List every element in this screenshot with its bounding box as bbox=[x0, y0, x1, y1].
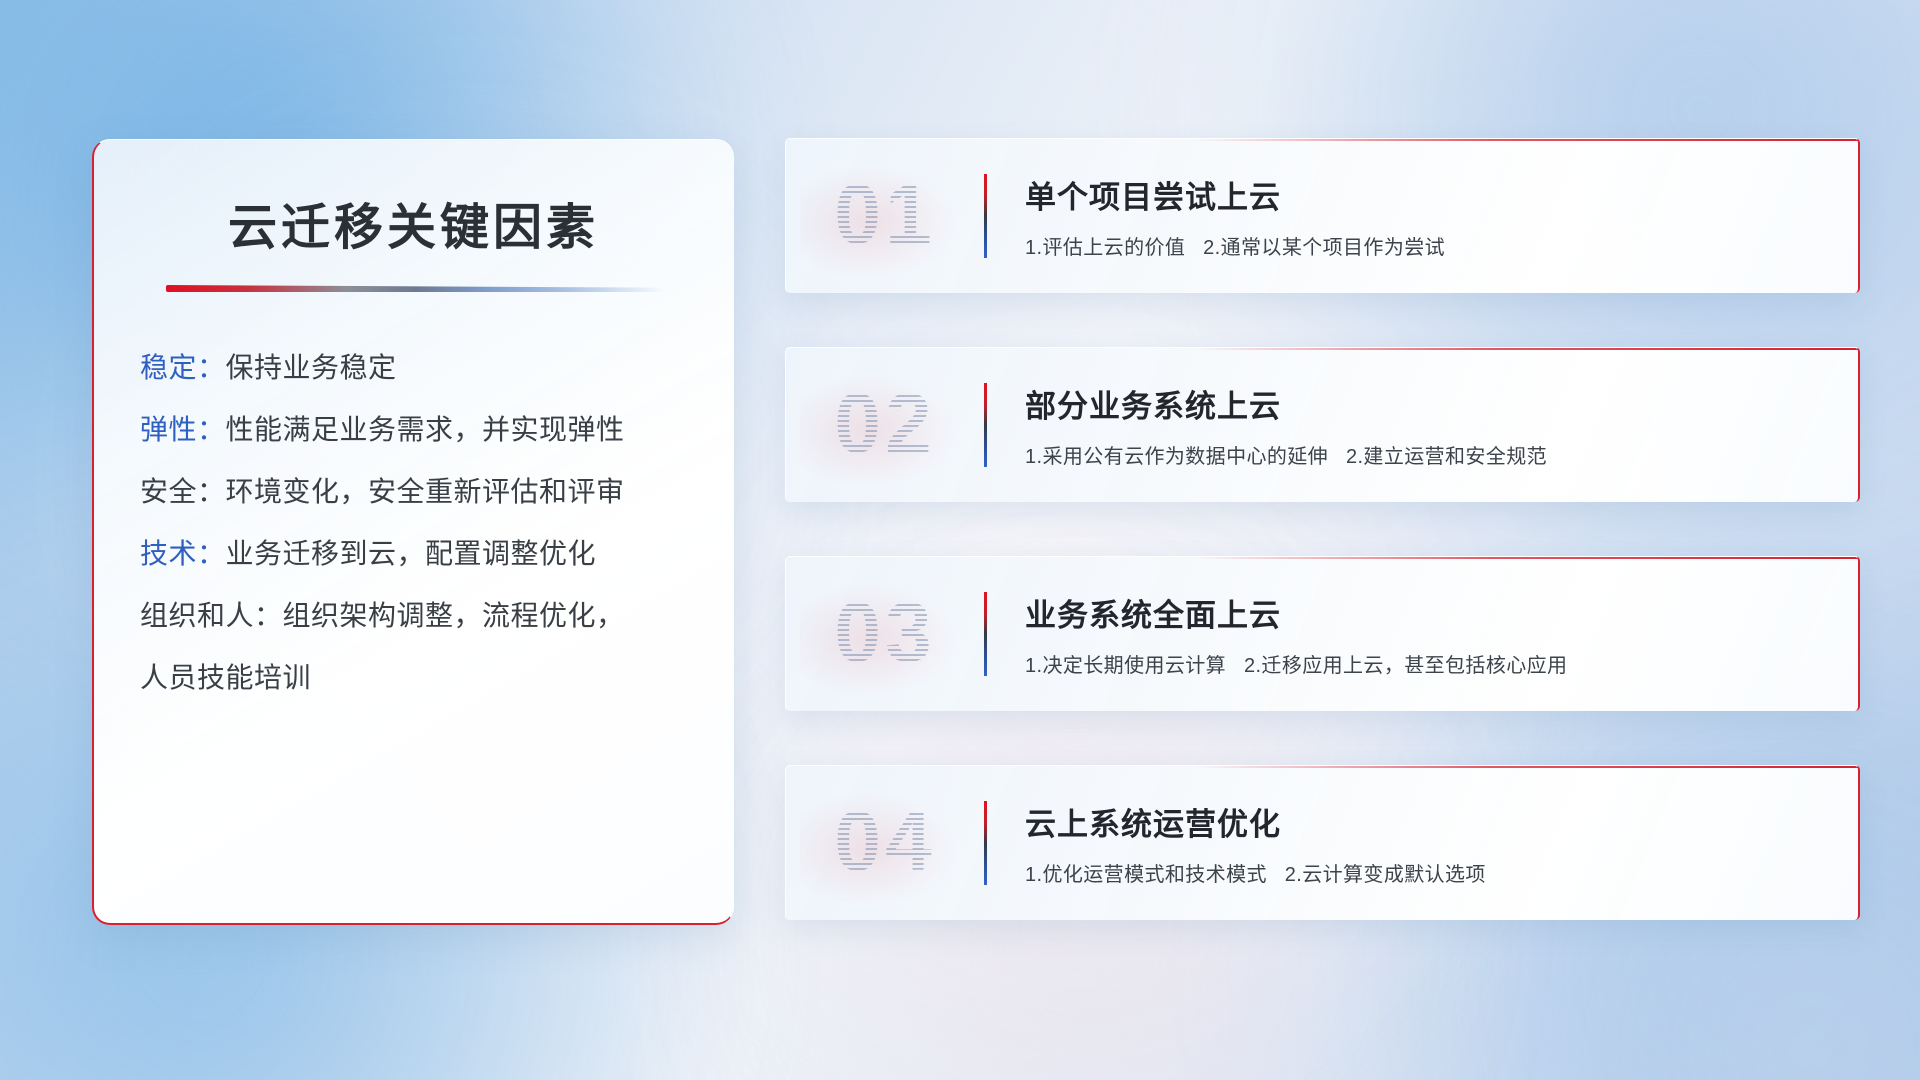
stage-number: 01 bbox=[834, 166, 935, 263]
card-description: 1.决定长期使用云计算 2.迁移应用上云，甚至包括核心应用 bbox=[1025, 649, 1834, 678]
stage-card[interactable]: 02部分业务系统上云1.采用公有云作为数据中心的延伸 2.建立运营和安全规范 bbox=[785, 347, 1860, 502]
card-title: 业务系统全面上云 bbox=[1025, 590, 1834, 635]
factor-text: 业务迁移到云，配置调整优化 bbox=[226, 538, 597, 569]
card-title: 单个项目尝试上云 bbox=[1025, 172, 1834, 217]
page-title: 云迁移关键因素 bbox=[94, 188, 733, 259]
card-title: 云上系统运营优化 bbox=[1025, 799, 1834, 844]
card-divider bbox=[984, 592, 987, 676]
factor-list: 稳定：保持业务稳定弹性：性能满足业务需求，并实现弹性安全：环境变化，安全重新评估… bbox=[140, 354, 733, 692]
factor-label: 弹性： bbox=[140, 414, 226, 445]
factor-text: 保持业务稳定 bbox=[226, 352, 397, 383]
card-title: 部分业务系统上云 bbox=[1025, 381, 1834, 426]
factor-label: 稳定： bbox=[140, 352, 226, 383]
card-body: 部分业务系统上云1.采用公有云作为数据中心的延伸 2.建立运营和安全规范 bbox=[1025, 381, 1858, 469]
factor-label: 技术： bbox=[140, 538, 226, 569]
card-description: 1.优化运营模式和技术模式 2.云计算变成默认选项 bbox=[1025, 858, 1834, 887]
stage-number-wrap: 04 bbox=[786, 766, 984, 920]
factor-label: 安全： bbox=[140, 476, 226, 507]
factor-item: 安全：环境变化，安全重新评估和评审 bbox=[140, 478, 733, 506]
card-body: 业务系统全面上云1.决定长期使用云计算 2.迁移应用上云，甚至包括核心应用 bbox=[1025, 590, 1858, 678]
factor-item: 弹性：性能满足业务需求，并实现弹性 bbox=[140, 416, 733, 444]
stage-number: 04 bbox=[834, 793, 935, 890]
card-body: 单个项目尝试上云1.评估上云的价值 2.通常以某个项目作为尝试 bbox=[1025, 172, 1858, 260]
title-underline-rule bbox=[166, 285, 666, 292]
card-description: 1.评估上云的价值 2.通常以某个项目作为尝试 bbox=[1025, 231, 1834, 260]
card-divider bbox=[984, 174, 987, 258]
factor-item: 稳定：保持业务稳定 bbox=[140, 354, 733, 382]
stage-number-wrap: 01 bbox=[786, 139, 984, 293]
stage-card-list: 01单个项目尝试上云1.评估上云的价值 2.通常以某个项目作为尝试02部分业务系… bbox=[785, 138, 1860, 974]
card-body: 云上系统运营优化1.优化运营模式和技术模式 2.云计算变成默认选项 bbox=[1025, 799, 1858, 887]
factor-item: 组织和人：组织架构调整，流程优化， bbox=[140, 602, 733, 630]
stage-number-wrap: 03 bbox=[786, 557, 984, 711]
factor-item: 技术：业务迁移到云，配置调整优化 bbox=[140, 540, 733, 568]
stage-card[interactable]: 03业务系统全面上云1.决定长期使用云计算 2.迁移应用上云，甚至包括核心应用 bbox=[785, 556, 1860, 711]
factor-label: 组织和人： bbox=[140, 600, 283, 631]
stage-card[interactable]: 01单个项目尝试上云1.评估上云的价值 2.通常以某个项目作为尝试 bbox=[785, 138, 1860, 293]
stage-card[interactable]: 04云上系统运营优化1.优化运营模式和技术模式 2.云计算变成默认选项 bbox=[785, 765, 1860, 920]
stage-number: 02 bbox=[834, 375, 935, 472]
card-divider bbox=[984, 383, 987, 467]
factor-item: 人员技能培训 bbox=[140, 664, 733, 692]
factor-text: 性能满足业务需求，并实现弹性 bbox=[226, 414, 625, 445]
factor-text: 组织架构调整，流程优化， bbox=[283, 600, 625, 631]
card-description: 1.采用公有云作为数据中心的延伸 2.建立运营和安全规范 bbox=[1025, 440, 1834, 469]
factor-text: 人员技能培训 bbox=[140, 662, 311, 693]
factor-text: 环境变化，安全重新评估和评审 bbox=[226, 476, 625, 507]
card-divider bbox=[984, 801, 987, 885]
stage-number: 03 bbox=[834, 584, 935, 681]
stage-number-wrap: 02 bbox=[786, 348, 984, 502]
key-factors-panel: 云迁移关键因素 稳定：保持业务稳定弹性：性能满足业务需求，并实现弹性安全：环境变… bbox=[92, 139, 734, 925]
